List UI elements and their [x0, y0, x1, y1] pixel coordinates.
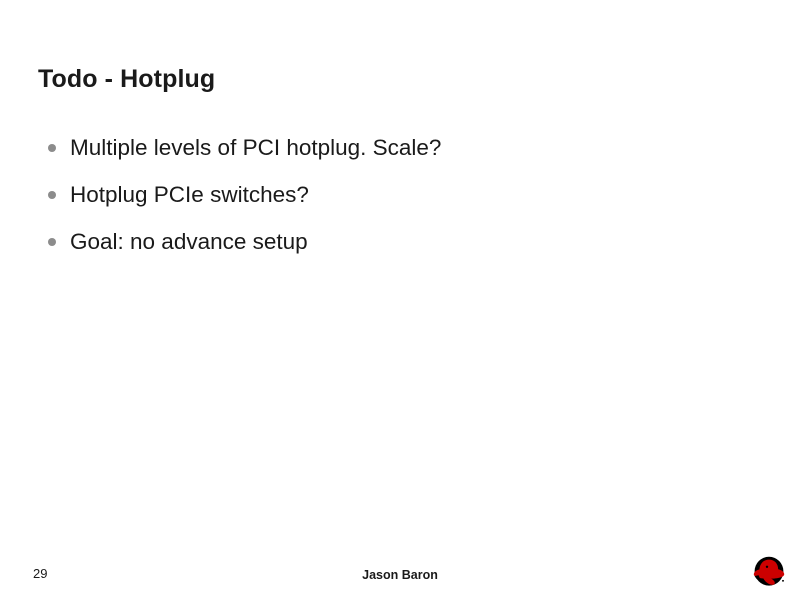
bullet-point-icon: [48, 144, 56, 152]
list-item-label: Multiple levels of PCI hotplug. Scale?: [70, 134, 441, 161]
list-item: Multiple levels of PCI hotplug. Scale?: [44, 124, 744, 171]
presentation-slide: Todo - Hotplug Multiple levels of PCI ho…: [0, 0, 800, 600]
page-title: Todo - Hotplug: [38, 63, 215, 95]
bullet-point-icon: [48, 238, 56, 246]
list-item-label: Hotplug PCIe switches?: [70, 181, 309, 208]
author-name: Jason Baron: [0, 567, 800, 583]
bullet-list: Multiple levels of PCI hotplug. Scale? H…: [44, 124, 744, 265]
list-item: Goal: no advance setup: [44, 218, 744, 265]
list-item-label: Goal: no advance setup: [70, 228, 308, 255]
list-item: Hotplug PCIe switches?: [44, 171, 744, 218]
bullet-point-icon: [48, 191, 56, 199]
red-hat-shadowman-logo-icon: [748, 552, 790, 592]
